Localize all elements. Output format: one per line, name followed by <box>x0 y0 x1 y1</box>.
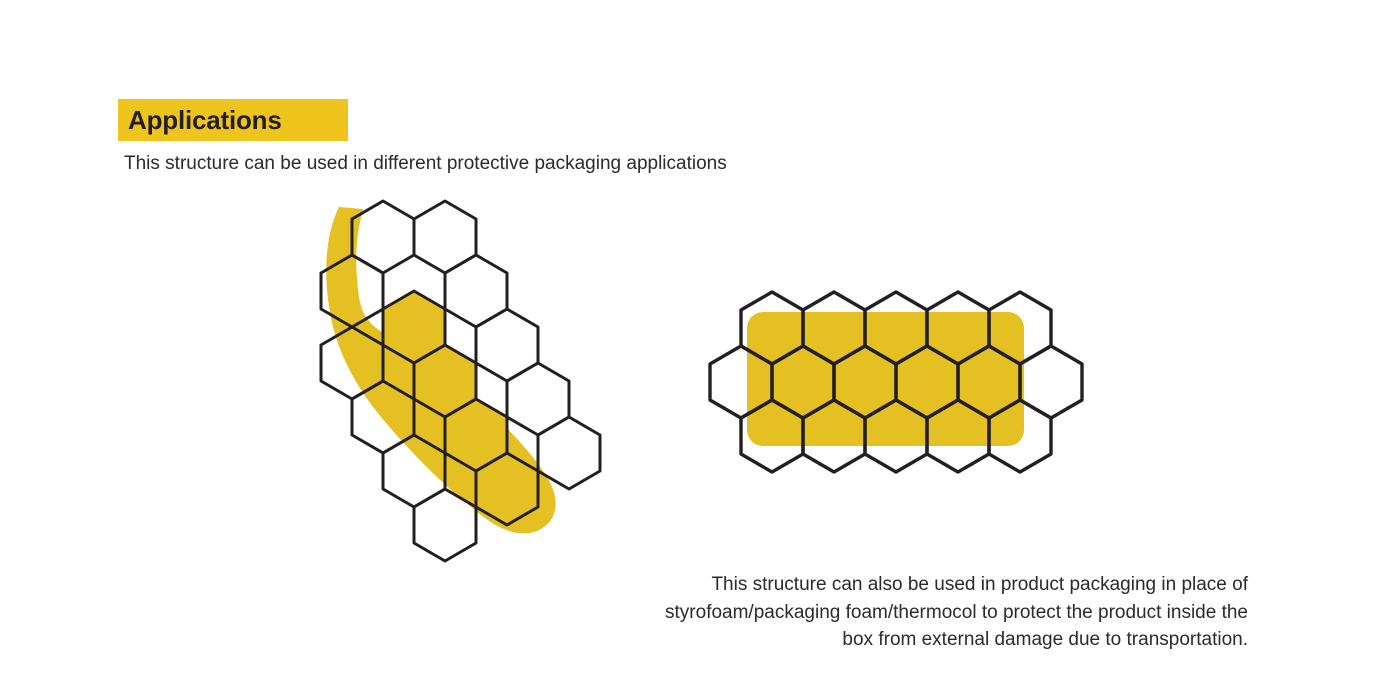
rectangular-honeycomb-svg <box>695 280 1080 475</box>
page-title: Applications <box>128 107 282 133</box>
diagonal-honeycomb-diagram <box>295 195 595 540</box>
diagonal-honeycomb-svg <box>295 195 595 540</box>
intro-paragraph: This structure can be used in different … <box>124 151 727 177</box>
bottom-paragraph-line-1: This structure can also be used in produ… <box>560 571 1248 599</box>
bottom-paragraph: This structure can also be used in produ… <box>560 571 1248 654</box>
bottom-paragraph-line-2: styrofoam/packaging foam/thermocol to pr… <box>560 599 1248 627</box>
rectangular-honeycomb-diagram <box>695 280 1080 475</box>
slide-canvas: Applications This structure can be used … <box>0 0 1400 695</box>
bottom-paragraph-line-3: box from external damage due to transpor… <box>560 626 1248 654</box>
rectangular-highlight <box>747 312 1024 446</box>
section-title-banner: Applications <box>118 99 348 141</box>
